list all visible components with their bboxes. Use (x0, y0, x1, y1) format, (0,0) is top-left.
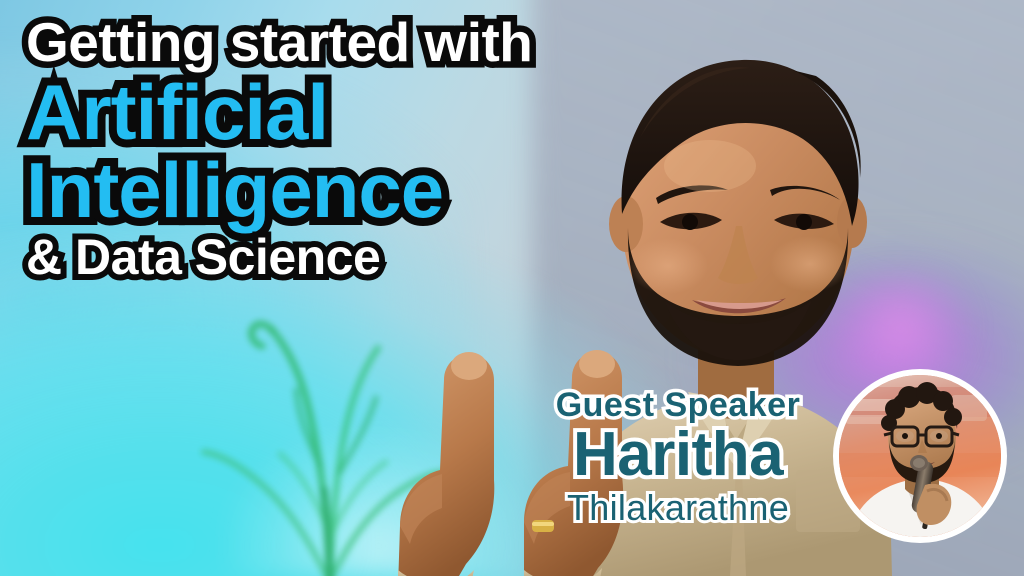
speaker-last-name: Thilakarathne (518, 490, 838, 526)
headline-block: Getting started with Artificial Intellig… (26, 16, 666, 282)
speaker-credit-block: Guest Speaker Haritha Thilakarathne (518, 388, 838, 526)
speaker-avatar (833, 369, 1007, 543)
headline-line-3: Intelligence (26, 152, 666, 228)
youtube-thumbnail: Getting started with Artificial Intellig… (0, 0, 1024, 576)
headline-line-2: Artificial (26, 74, 666, 150)
guest-speaker-label: Guest Speaker (518, 388, 838, 422)
headline-line-4: & Data Science (26, 233, 666, 282)
speaker-first-name: Haritha (518, 424, 838, 486)
headline-line-1: Getting started with (26, 16, 666, 70)
